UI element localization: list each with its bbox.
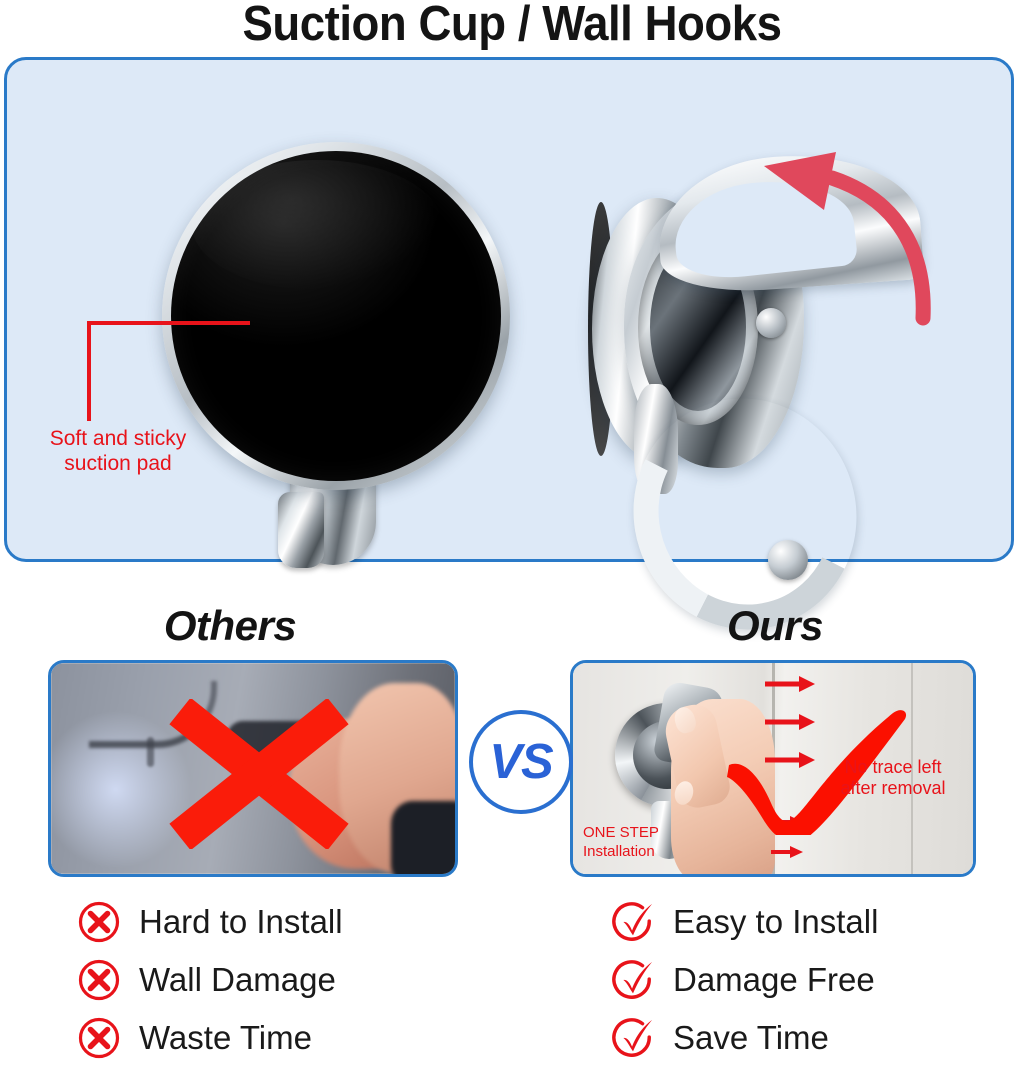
ours-photo-panel: No trace left after removal ONE STEP Ins…	[570, 660, 976, 877]
pad-gloss-highlight	[192, 160, 442, 290]
product-image-front-view	[162, 142, 512, 582]
list-item: Wall Damage	[78, 951, 343, 1009]
curved-arrow-icon	[740, 148, 940, 328]
right-arrow-icon	[769, 845, 803, 859]
vs-badge: VS	[469, 710, 573, 814]
list-item: Save Time	[612, 1009, 878, 1067]
wall-drip	[147, 737, 154, 767]
list-item-label: Easy to Install	[673, 903, 878, 941]
callout-line-1: ONE STEP	[583, 823, 659, 842]
dark-sleeve	[391, 801, 458, 877]
ours-feature-list: Easy to Install Damage Free Save Time	[612, 893, 878, 1067]
comparison-heading-others: Others	[0, 602, 460, 650]
circled-x-icon	[78, 959, 120, 1001]
red-x-icon	[164, 699, 354, 849]
right-arrow-icon	[763, 675, 815, 693]
callout-line-2: Installation	[583, 842, 659, 861]
hook-tip	[278, 492, 324, 568]
circled-check-icon	[612, 901, 654, 943]
others-photo-panel	[48, 660, 458, 877]
page-title: Suction Cup / Wall Hooks	[36, 0, 988, 52]
callout-leader-horizontal	[87, 321, 250, 325]
circled-check-icon	[612, 959, 654, 1001]
list-item-label: Damage Free	[673, 961, 875, 999]
callout-line-2: after removal	[813, 778, 973, 799]
list-item-label: Wall Damage	[139, 961, 336, 999]
callout-line-2: suction pad	[13, 451, 223, 476]
callout-soft-sticky-pad: Soft and sticky suction pad	[13, 426, 223, 476]
list-item: Damage Free	[612, 951, 878, 1009]
callout-line-1: Soft and sticky	[13, 426, 223, 451]
comparison-heading-ours: Ours	[565, 602, 985, 650]
list-item-label: Save Time	[673, 1019, 829, 1057]
circled-x-icon	[78, 901, 120, 943]
hook-ball-tip	[768, 540, 808, 580]
hero-product-panel: Soft and sticky suction pad	[4, 57, 1014, 562]
list-item-label: Hard to Install	[139, 903, 343, 941]
callout-no-trace-left: No trace left after removal	[813, 757, 973, 799]
circled-x-icon	[78, 1017, 120, 1059]
list-item: Waste Time	[78, 1009, 343, 1067]
vs-label: VS	[489, 738, 552, 787]
others-feature-list: Hard to Install Wall Damage Waste Time	[78, 893, 343, 1067]
product-image-side-view	[572, 148, 932, 598]
circled-check-icon	[612, 1017, 654, 1059]
callout-one-step-installation: ONE STEP Installation	[583, 823, 659, 861]
callout-leader-vertical	[87, 321, 91, 421]
list-item-label: Waste Time	[139, 1019, 312, 1057]
callout-line-1: No trace left	[813, 757, 973, 778]
list-item: Hard to Install	[78, 893, 343, 951]
list-item: Easy to Install	[612, 893, 878, 951]
